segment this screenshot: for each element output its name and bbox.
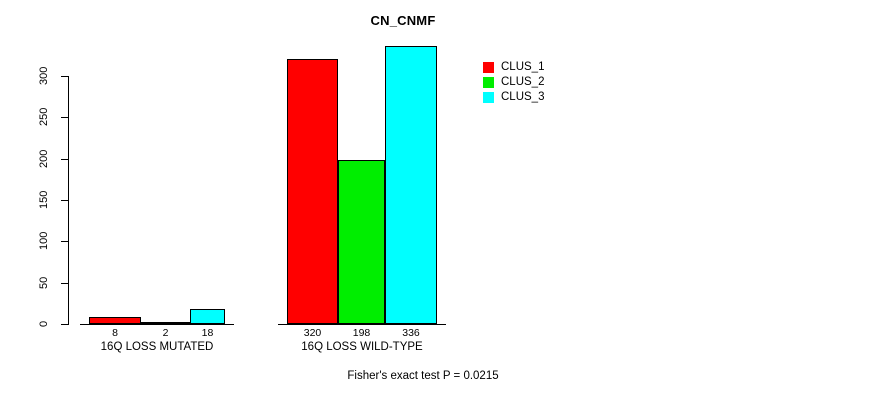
bar-clus-3-group-2 <box>385 46 437 324</box>
legend-item-label: CLUS_1 <box>501 62 544 74</box>
bar-value-label: 336 <box>381 327 441 339</box>
legend-color-swatch-icon <box>483 77 494 88</box>
legend-item-label: CLUS_2 <box>501 77 544 89</box>
legend-item: CLUS_1 <box>483 61 544 74</box>
bar-clus-2-group-1 <box>141 322 190 324</box>
statistical-test-annotation: Fisher's exact test P = 0.0215 <box>0 370 868 382</box>
legend-color-swatch-icon <box>483 62 494 73</box>
legend: CLUS_1CLUS_2CLUS_3 <box>483 61 544 106</box>
bars-layer: 821816Q LOSS MUTATED32019833616Q LOSS WI… <box>0 0 890 400</box>
bar-clus-1-group-1 <box>89 317 141 324</box>
x-axis-baseline <box>80 324 234 325</box>
bar-chart-plot: CN_CNMF 300250200150100500 number of cas… <box>0 0 890 400</box>
bar-clus-2-group-2 <box>338 160 385 324</box>
x-axis-baseline <box>278 324 446 325</box>
bar-clus-1-group-2 <box>287 59 338 324</box>
bar-clus-3-group-1 <box>190 309 225 324</box>
x-axis-group-label: 16Q LOSS WILD-TYPE <box>222 341 502 353</box>
legend-item-label: CLUS_3 <box>501 92 544 104</box>
legend-item: CLUS_2 <box>483 76 544 89</box>
legend-color-swatch-icon <box>483 92 494 103</box>
bar-value-label: 18 <box>178 327 238 339</box>
legend-item: CLUS_3 <box>483 91 544 104</box>
